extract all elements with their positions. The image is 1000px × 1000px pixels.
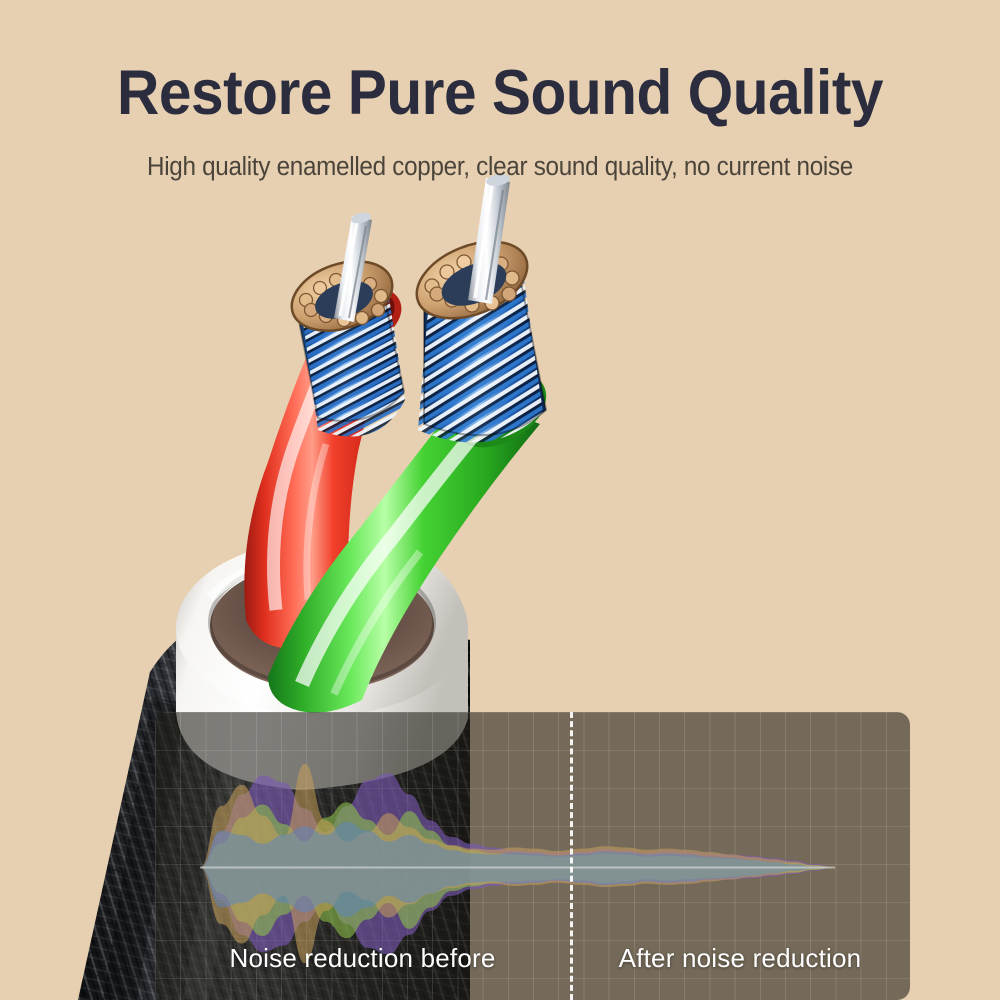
caption-row: Noise reduction before After noise reduc…: [155, 943, 910, 974]
page-subtitle: High quality enamelled copper, clear sou…: [25, 125, 975, 181]
wave-band-blue-band: [200, 822, 835, 917]
header: Restore Pure Sound Quality High quality …: [0, 0, 1000, 181]
noise-comparison-panel: Noise reduction before After noise reduc…: [155, 712, 910, 1000]
product-banner: Restore Pure Sound Quality High quality …: [0, 0, 1000, 1000]
caption-before: Noise reduction before: [155, 943, 570, 974]
caption-after: After noise reduction: [570, 943, 910, 974]
page-title: Restore Pure Sound Quality: [35, 0, 965, 125]
